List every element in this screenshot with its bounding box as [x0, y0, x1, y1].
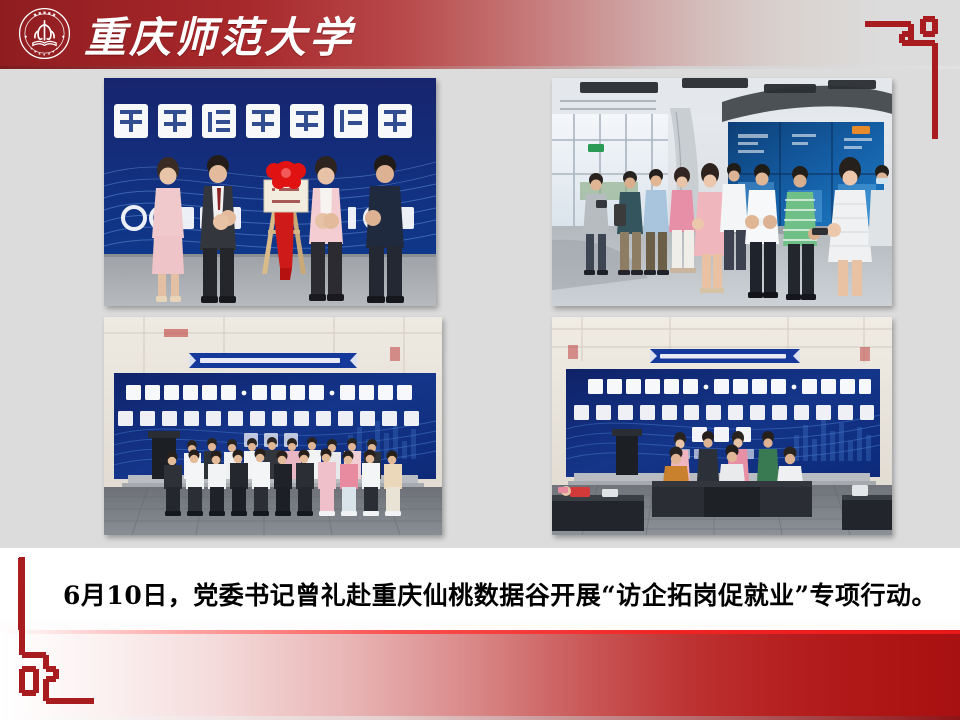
chinese-corner-ornament-bottom-icon	[14, 555, 98, 707]
university-seal-icon	[18, 7, 71, 60]
caption-text: 6月10日，党委书记曾礼赴重庆仙桃数据谷开展“访企拓岗促就业”专项行动。	[70, 565, 930, 623]
university-name-title: 重庆师范大学	[84, 5, 354, 63]
presentation-slide: 重庆师范大学	[0, 0, 960, 720]
footer-band	[0, 634, 960, 716]
plaque-unveiling-ceremony-photo[interactable]	[104, 78, 436, 306]
header-underline	[0, 66, 960, 69]
signing-ceremony-photo[interactable]	[552, 317, 892, 535]
group-photo[interactable]	[104, 317, 442, 535]
exhibition-hall-tour-photo[interactable]	[552, 78, 892, 306]
footer-edge	[0, 716, 960, 720]
